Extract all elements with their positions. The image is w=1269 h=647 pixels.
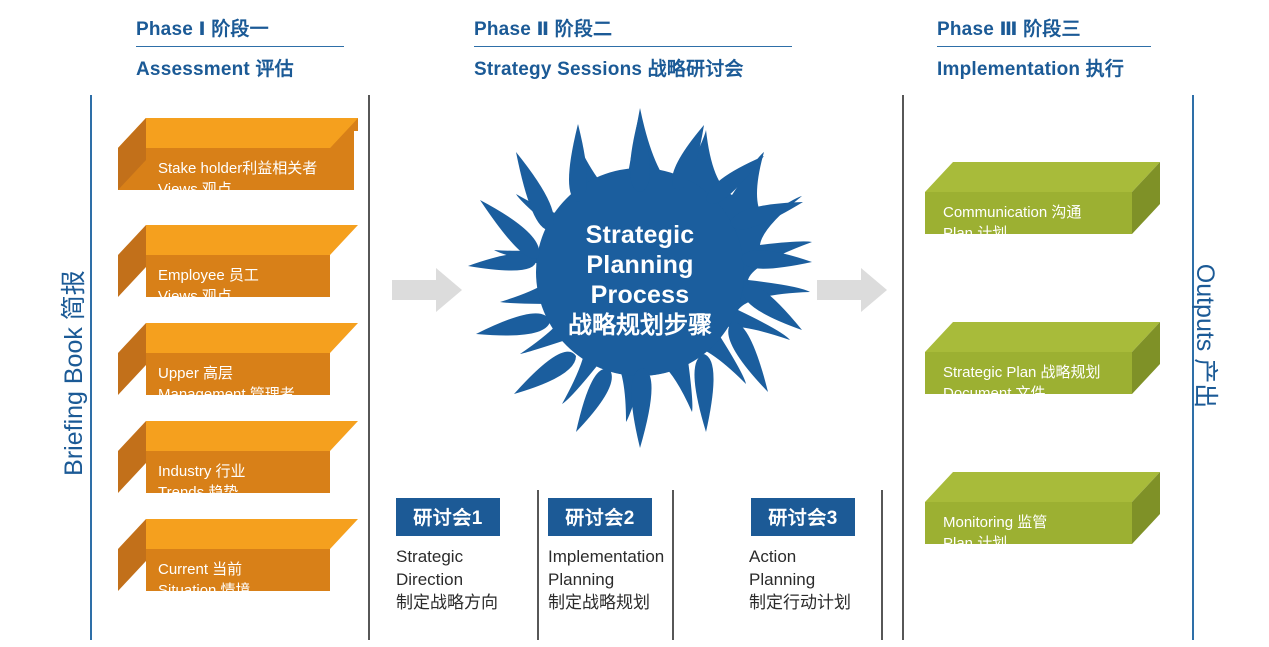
side-label-outputs: Outputs 产出 xyxy=(1189,201,1225,471)
input-block-4-text: Industry 行业 Trends 趋势 xyxy=(158,461,246,503)
output-block-3[interactable]: Monitoring 监管 Plan 计划 xyxy=(925,472,1160,556)
right-arrow-icon xyxy=(817,266,889,314)
left-boundary-rule xyxy=(90,95,92,640)
workshop-column-3: 研讨会3 Action Planning 制定行动计划 xyxy=(749,498,877,614)
output-block-2[interactable]: Strategic Plan 战略规划 Document 文件 xyxy=(925,322,1160,406)
arrow-process-to-outputs xyxy=(817,266,889,314)
starburst-shape xyxy=(468,108,812,452)
phase-header-1: Phase Ⅰ 阶段一 Assessment 评估 xyxy=(136,14,344,81)
right-arrow-icon xyxy=(392,266,464,314)
workshop-1-badge[interactable]: 研讨会1 xyxy=(396,498,500,536)
workshop-column-2: 研讨会2 Implementation Planning 制定战略规划 xyxy=(548,498,676,614)
workshop-3-badge[interactable]: 研讨会3 xyxy=(751,498,855,536)
output-block-2-text: Strategic Plan 战略规划 Document 文件 xyxy=(943,362,1101,404)
side-label-briefing-book: Briefing Book 简报 xyxy=(54,208,90,538)
workshop-2-badge[interactable]: 研讨会2 xyxy=(548,498,652,536)
input-block-4[interactable]: Industry 行业 Trends 趋势 xyxy=(118,421,358,505)
phase-2-subtitle: Strategy Sessions 战略研讨会 xyxy=(474,47,792,81)
output-block-1-text: Communication 沟通 Plan 计划 xyxy=(943,202,1081,244)
workshop-3-body: Action Planning 制定行动计划 xyxy=(749,545,877,614)
input-block-2[interactable]: Employee 员工 Views 观点 xyxy=(118,225,358,309)
phase-header-3: Phase Ⅲ 阶段三 Implementation 执行 xyxy=(937,14,1151,81)
phase-divider-2 xyxy=(902,95,904,640)
arrow-inputs-to-process xyxy=(392,266,464,314)
output-block-3-text: Monitoring 监管 Plan 计划 xyxy=(943,512,1047,554)
input-block-1[interactable]: Stake holder利益相关者 Views 观点 xyxy=(118,118,358,202)
workshop-1-body: Strategic Direction 制定战略方向 xyxy=(396,545,524,614)
workshop-2-body: Implementation Planning 制定战略规划 xyxy=(548,545,676,614)
input-block-3[interactable]: Upper 高层 Management 管理者 xyxy=(118,323,358,407)
input-block-1-text: Stake holder利益相关者 Views 观点 xyxy=(158,158,317,200)
output-block-1[interactable]: Communication 沟通 Plan 计划 xyxy=(925,162,1160,246)
workshop-divider-1 xyxy=(537,490,539,640)
input-block-5-text: Current 当前 Situation 情境 xyxy=(158,559,251,601)
phase-1-label: Phase Ⅰ 阶段一 xyxy=(136,14,344,47)
phase-divider-1 xyxy=(368,95,370,640)
phase-2-label: Phase Ⅱ 阶段二 xyxy=(474,14,792,47)
workshop-divider-3 xyxy=(881,490,883,640)
phase-3-subtitle: Implementation 执行 xyxy=(937,47,1151,81)
phase-header-2: Phase Ⅱ 阶段二 Strategy Sessions 战略研讨会 xyxy=(474,14,792,81)
phase-3-label: Phase Ⅲ 阶段三 xyxy=(937,14,1151,47)
input-block-5[interactable]: Current 当前 Situation 情境 xyxy=(118,519,358,603)
input-block-3-text: Upper 高层 Management 管理者 xyxy=(158,363,295,405)
workshop-column-1: 研讨会1 Strategic Direction 制定战略方向 xyxy=(396,498,524,614)
phase-1-subtitle: Assessment 评估 xyxy=(136,47,344,81)
input-block-2-text: Employee 员工 Views 观点 xyxy=(158,265,259,307)
diagram-canvas: Phase Ⅰ 阶段一 Assessment 评估 Phase Ⅱ 阶段二 St… xyxy=(0,0,1269,647)
